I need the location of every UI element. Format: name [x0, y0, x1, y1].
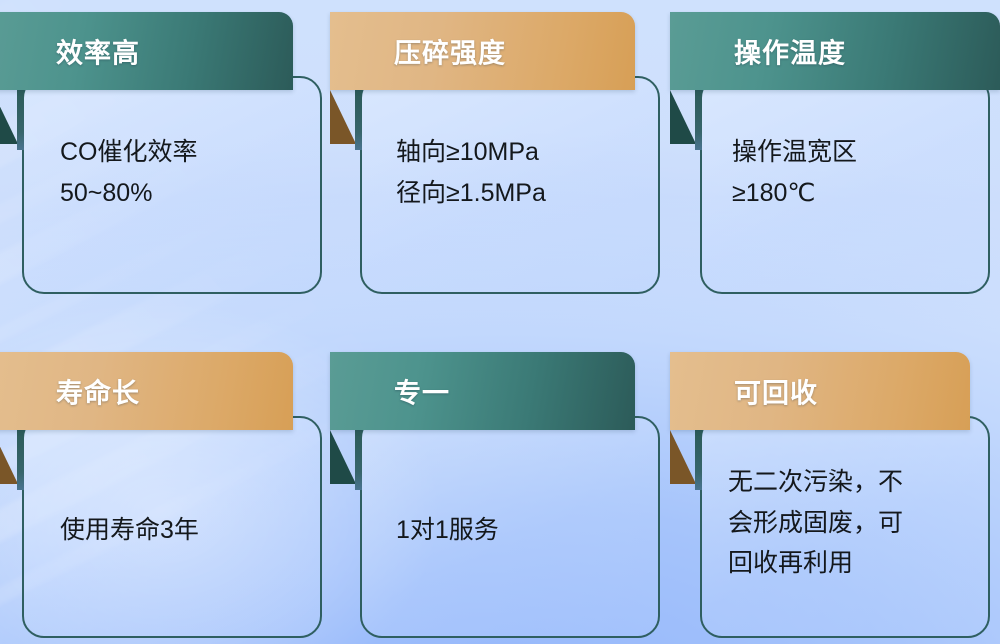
- card-title: 可回收: [734, 372, 818, 411]
- card-header-ribbon[interactable]: 效率高: [0, 12, 293, 90]
- card-body-line: 会形成固废，可: [728, 503, 990, 544]
- feature-card: 寿命长 使用寿命3年: [22, 416, 322, 638]
- card-body-text: CO催化效率 50~80%: [60, 132, 322, 213]
- feature-card-grid: 效率高 CO催化效率 50~80% 压碎强度 轴向≥10MPa 径向≥1.5MP…: [0, 0, 1000, 644]
- card-header-ribbon[interactable]: 寿命长: [0, 352, 293, 430]
- card-title: 压碎强度: [394, 32, 506, 71]
- ribbon-fold: [670, 430, 696, 484]
- card-body-line: 操作温宽区: [732, 132, 990, 173]
- card-body-line: ≥180℃: [732, 173, 990, 214]
- card-body-text: 使用寿命3年: [60, 510, 322, 551]
- card-body-line: 无二次污染，不: [728, 462, 990, 503]
- ribbon-fold: [330, 90, 356, 144]
- ribbon-fold: [0, 430, 18, 484]
- feature-card: 专一 1对1服务: [360, 416, 660, 638]
- card-body-text: 轴向≥10MPa 径向≥1.5MPa: [396, 132, 660, 213]
- card-body-text: 无二次污染，不 会形成固废，可 回收再利用: [728, 462, 990, 584]
- ribbon-fold: [330, 430, 356, 484]
- card-body-line: 使用寿命3年: [60, 510, 322, 551]
- card-body-line: 径向≥1.5MPa: [396, 173, 660, 214]
- ribbon-fold-edge: [695, 90, 702, 150]
- ribbon-fold-edge: [355, 430, 362, 490]
- card-title: 专一: [394, 372, 450, 411]
- card-title: 操作温度: [734, 32, 846, 71]
- ribbon-fold: [0, 90, 18, 144]
- ribbon-fold-edge: [355, 90, 362, 150]
- card-body-line: 回收再利用: [728, 543, 990, 584]
- feature-card: 效率高 CO催化效率 50~80%: [22, 76, 322, 294]
- card-header-ribbon[interactable]: 操作温度: [670, 12, 1000, 90]
- card-header-ribbon[interactable]: 压碎强度: [330, 12, 635, 90]
- feature-card: 压碎强度 轴向≥10MPa 径向≥1.5MPa: [360, 76, 660, 294]
- ribbon-fold: [670, 90, 696, 144]
- feature-card: 操作温度 操作温宽区 ≥180℃: [700, 76, 990, 294]
- card-title: 寿命长: [56, 372, 140, 411]
- ribbon-fold-edge: [695, 430, 702, 490]
- card-title: 效率高: [56, 32, 140, 71]
- card-body-text: 1对1服务: [396, 510, 660, 551]
- feature-card: 可回收 无二次污染，不 会形成固废，可 回收再利用: [700, 416, 990, 638]
- card-body-line: 轴向≥10MPa: [396, 132, 660, 173]
- card-header-ribbon[interactable]: 专一: [330, 352, 635, 430]
- card-body-line: 50~80%: [60, 173, 322, 214]
- ribbon-fold-edge: [17, 430, 24, 490]
- card-body-line: 1对1服务: [396, 510, 660, 551]
- card-header-ribbon[interactable]: 可回收: [670, 352, 970, 430]
- card-body-text: 操作温宽区 ≥180℃: [732, 132, 990, 213]
- card-body-line: CO催化效率: [60, 132, 322, 173]
- ribbon-fold-edge: [17, 90, 24, 150]
